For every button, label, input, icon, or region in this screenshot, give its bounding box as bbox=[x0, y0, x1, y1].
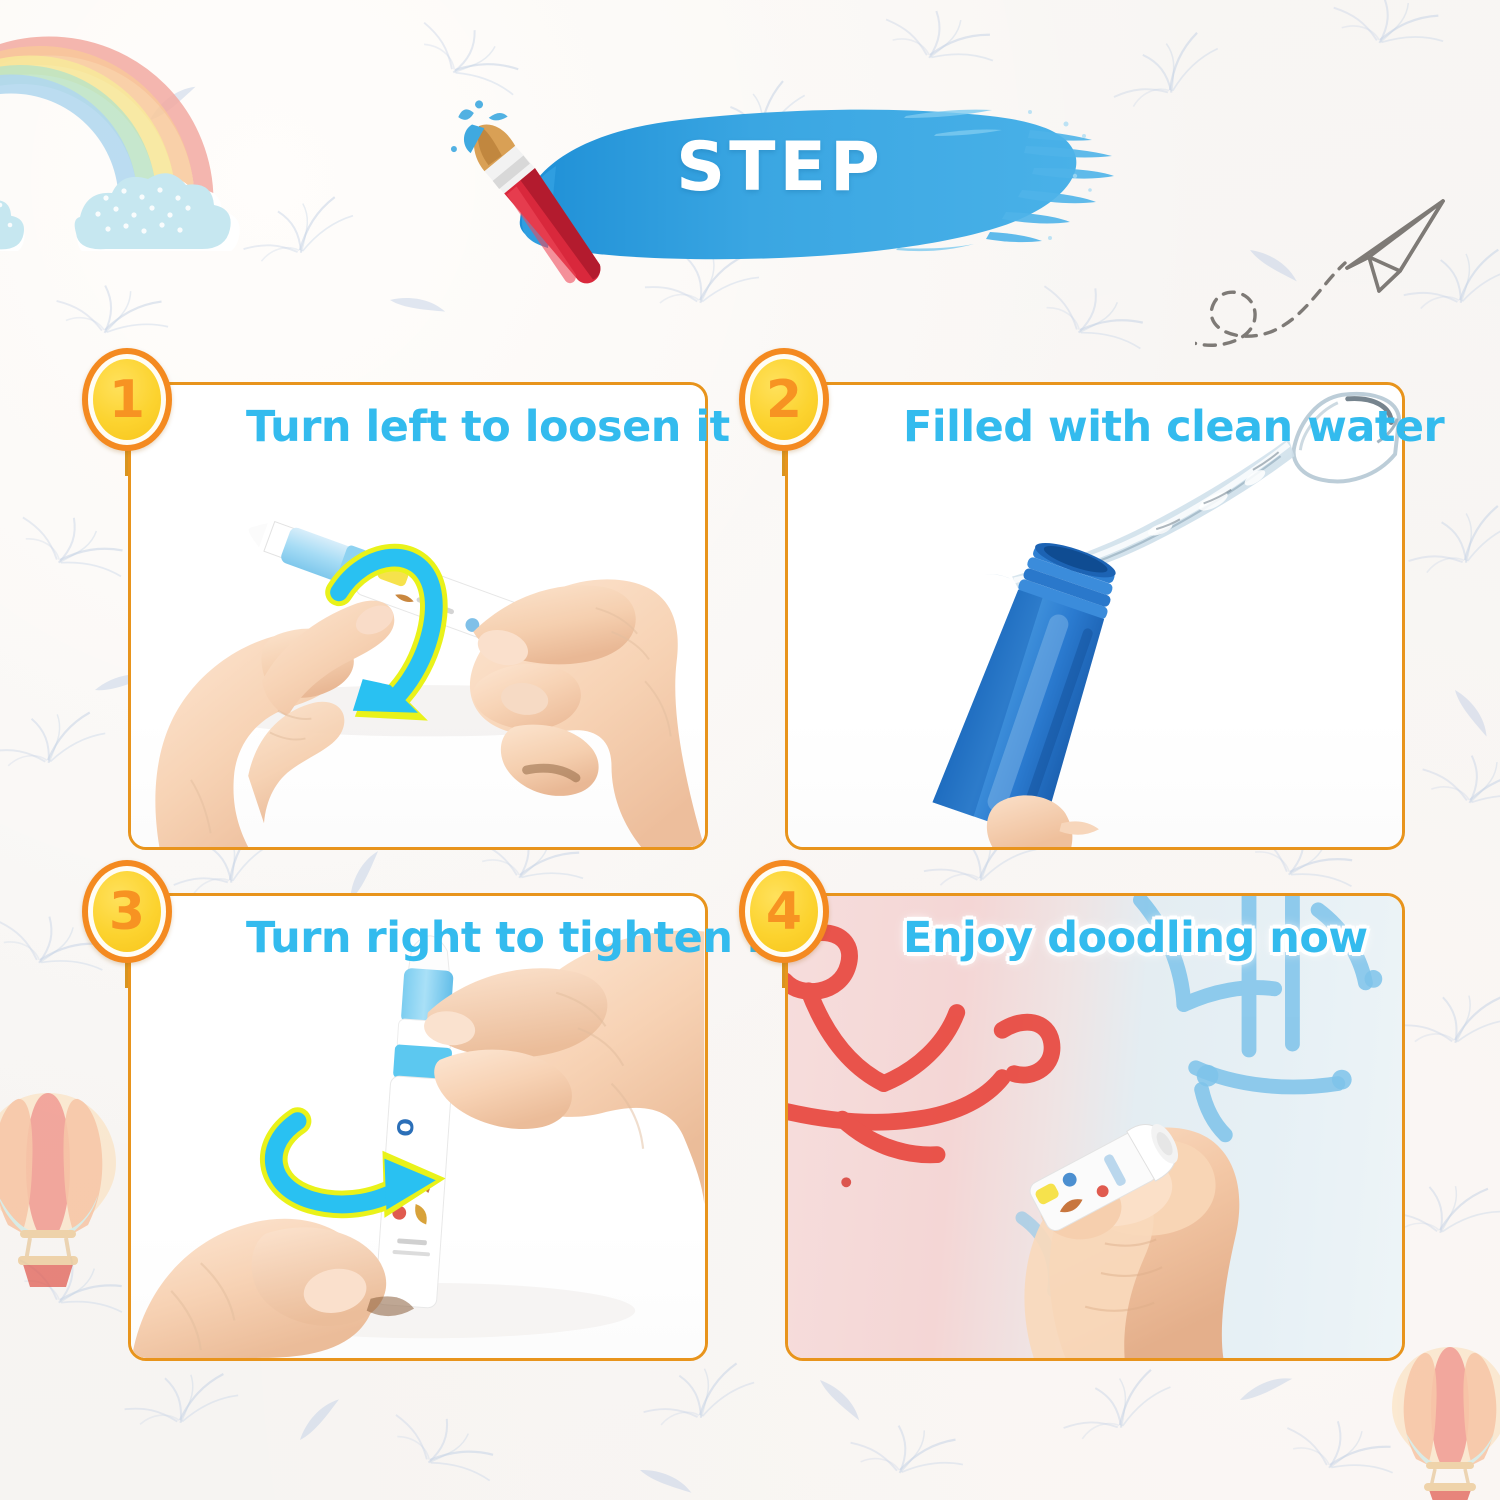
step-badge-1: 1 bbox=[82, 348, 172, 476]
badge-number: 3 bbox=[109, 886, 145, 938]
badge-1: 1 bbox=[82, 348, 172, 451]
svg-text:O: O bbox=[391, 1117, 417, 1137]
badge-core: 3 bbox=[93, 871, 161, 952]
badge-number: 1 bbox=[109, 374, 145, 426]
step-1-heading: Turn left to loosen it bbox=[246, 396, 694, 458]
step-4-heading: Enjoy doodling now bbox=[903, 907, 1391, 969]
step-card-1[interactable]: Turn left to loosen it bbox=[128, 382, 708, 850]
page-title: STEP bbox=[620, 125, 940, 210]
badge-4: 4 bbox=[739, 860, 829, 963]
badge-core: 1 bbox=[93, 359, 161, 440]
badge-core: 2 bbox=[750, 359, 818, 440]
step-badge-2: 2 bbox=[739, 348, 829, 476]
step-card-2[interactable]: Filled with clean water bbox=[785, 382, 1405, 850]
step-2-heading: Filled with clean water bbox=[903, 396, 1391, 458]
step-3-heading: Turn right to tighten it bbox=[246, 907, 694, 969]
badge-number: 4 bbox=[766, 886, 802, 938]
step-card-3[interactable]: O bbox=[128, 893, 708, 1361]
badge-number: 2 bbox=[766, 374, 802, 426]
badge-core: 4 bbox=[750, 871, 818, 952]
badge-2: 2 bbox=[739, 348, 829, 451]
badge-3: 3 bbox=[82, 860, 172, 963]
step-badge-3: 3 bbox=[82, 860, 172, 988]
step-badge-4: 4 bbox=[739, 860, 829, 988]
step-card-4[interactable]: Enjoy doodling now bbox=[785, 893, 1405, 1361]
